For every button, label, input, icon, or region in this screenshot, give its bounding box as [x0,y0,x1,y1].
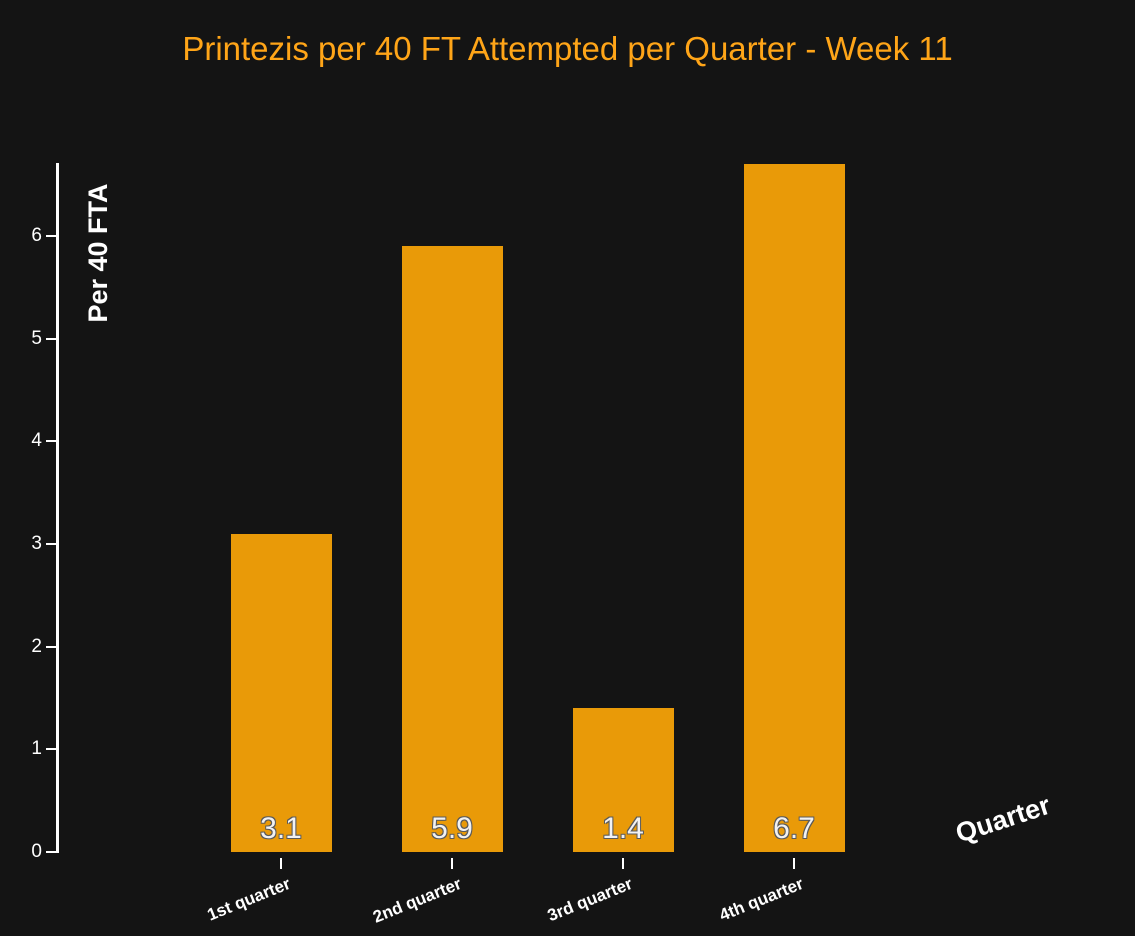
x-tick-mark [622,858,624,869]
y-axis-title: Per 40 FTA [85,163,111,343]
bar[interactable]: 3.1 [231,534,332,852]
y-tick-mark [46,338,56,340]
y-tick-label: 2 [14,637,42,656]
x-tick-label: 1st quarter [179,874,293,936]
bar[interactable]: 5.9 [402,246,503,852]
y-tick-mark [46,543,56,545]
y-tick-label: 5 [14,329,42,348]
x-tick-label: 2nd quarter [350,874,464,936]
y-tick-mark [46,748,56,750]
bar-value-label: 1.4 [573,812,674,846]
bar[interactable]: 6.7 [744,164,845,852]
y-tick-mark [46,440,56,442]
y-tick-label: 6 [14,226,42,245]
bar[interactable]: 1.4 [573,708,674,852]
y-tick-label: 4 [14,431,42,450]
y-tick-label: 1 [14,739,42,758]
bar-value-label: 3.1 [231,812,332,846]
y-tick-mark [46,646,56,648]
bar-chart: Printezis per 40 FT Attempted per Quarte… [0,0,1135,934]
bar-value-label: 5.9 [402,812,503,846]
x-axis-title: Quarter [952,790,1054,850]
bar-value-label: 6.7 [744,812,845,846]
y-tick-mark [46,235,56,237]
y-tick-label: 0 [14,842,42,861]
x-tick-mark [280,858,282,869]
y-axis-spine [56,163,59,853]
y-tick-label: 3 [14,534,42,553]
x-tick-mark [451,858,453,869]
x-tick-label: 3rd quarter [521,874,635,936]
chart-title: Printezis per 40 FT Attempted per Quarte… [0,30,1135,68]
x-tick-label: 4th quarter [692,874,806,936]
x-tick-mark [793,858,795,869]
y-tick-mark [46,851,56,853]
